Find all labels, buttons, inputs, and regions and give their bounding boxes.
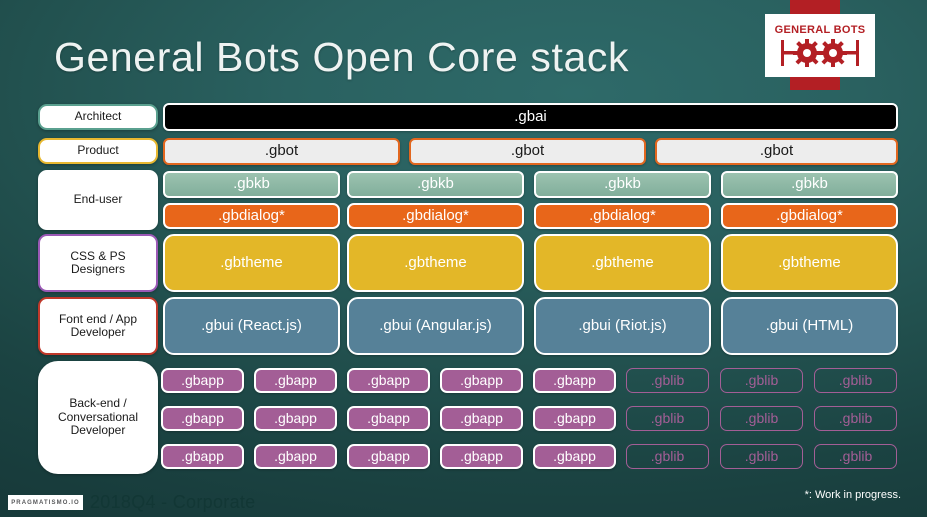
- pragmatismo-wordmark: PRAGMATISMO.IO: [11, 500, 80, 506]
- pragmatismo-logo: PRAGMATISMO.IO: [8, 495, 83, 510]
- stack-item-gbui-html[interactable]: .gbui (HTML): [721, 297, 898, 355]
- stack-item-gbkb[interactable]: .gbkb: [163, 171, 340, 198]
- stack-item-label: .gbdialog*: [402, 208, 469, 225]
- role-label-text: Product: [77, 144, 118, 157]
- stack-item-gbui-angular[interactable]: .gbui (Angular.js): [347, 297, 524, 355]
- stack-item-gblib[interactable]: .gblib: [626, 444, 709, 469]
- stack-item-label: .gbui (React.js): [201, 318, 302, 335]
- stack-item-label: .gbapp: [553, 449, 596, 465]
- stack-item-label: .gbapp: [460, 411, 503, 427]
- role-label-product: Product: [38, 138, 158, 164]
- stack-item-gbapp[interactable]: .gbapp: [161, 406, 244, 431]
- role-label-line-2: Designers: [71, 263, 125, 276]
- stack-item-label: .gblib: [745, 373, 778, 389]
- stack-item-gblib[interactable]: .gblib: [720, 444, 803, 469]
- stack-item-label: .gblib: [651, 449, 684, 465]
- stack-item-label: .gbtheme: [591, 255, 654, 272]
- stack-item-gbot[interactable]: .gbot: [409, 138, 646, 165]
- stack-item-label: .gbapp: [460, 373, 503, 389]
- role-label-back-end-conversational-developer: Back-end / Conversational Developer: [38, 361, 158, 474]
- logo-wordmark: GENERAL BOTS: [775, 24, 866, 36]
- stack-item-gblib[interactable]: .gblib: [814, 368, 897, 393]
- stack-item-label: .gbapp: [367, 411, 410, 427]
- stack-item-label: .gbtheme: [778, 255, 841, 272]
- role-label-text: End-user: [74, 193, 123, 206]
- gears-icon: [777, 38, 863, 68]
- stack-item-label: .gbdialog*: [589, 208, 656, 225]
- stack-item-gbkb[interactable]: .gbkb: [534, 171, 711, 198]
- role-label-line-2: Conversational: [58, 411, 138, 424]
- footer-caption: 2018Q4 - Corporate: [90, 492, 256, 513]
- stack-item-gbtheme[interactable]: .gbtheme: [347, 234, 524, 292]
- stack-item-label: .gbapp: [181, 449, 224, 465]
- role-label-front-end-app-developer: Font end / App Developer: [38, 297, 158, 355]
- stack-item-gbapp[interactable]: .gbapp: [347, 368, 430, 393]
- stack-item-label: .gbapp: [367, 449, 410, 465]
- stack-item-label: .gbot: [265, 143, 298, 160]
- stack-item-label: .gblib: [839, 373, 872, 389]
- stack-item-gbapp[interactable]: .gbapp: [440, 406, 523, 431]
- stack-item-gbapp[interactable]: .gbapp: [347, 444, 430, 469]
- stack-item-gbapp[interactable]: .gbapp: [161, 444, 244, 469]
- stack-item-gbapp[interactable]: .gbapp: [440, 444, 523, 469]
- stack-item-label: .gbapp: [274, 373, 317, 389]
- role-label-line-1: Back-end /: [69, 397, 126, 410]
- role-label-line-3: Developer: [71, 424, 126, 437]
- role-label-line-1: CSS & PS: [70, 250, 125, 263]
- stack-item-label: .gbkb: [604, 176, 641, 193]
- stack-item-label: .gblib: [839, 449, 872, 465]
- stack-item-label: .gbtheme: [404, 255, 467, 272]
- stack-item-gblib[interactable]: .gblib: [626, 406, 709, 431]
- stack-item-label: .gbui (Riot.js): [578, 318, 666, 335]
- stack-item-label: .gbui (Angular.js): [379, 318, 492, 335]
- stack-item-label: .gbkb: [417, 176, 454, 193]
- stack-item-label: .gbapp: [553, 373, 596, 389]
- stack-item-gbtheme[interactable]: .gbtheme: [534, 234, 711, 292]
- stack-item-gbdialog[interactable]: .gbdialog*: [163, 203, 340, 229]
- stack-item-gbapp[interactable]: .gbapp: [254, 368, 337, 393]
- stack-item-gbapp[interactable]: .gbapp: [440, 368, 523, 393]
- stack-item-gbapp[interactable]: .gbapp: [254, 406, 337, 431]
- stack-item-gbui-riot[interactable]: .gbui (Riot.js): [534, 297, 711, 355]
- stack-item-label: .gbapp: [460, 449, 503, 465]
- footnote-work-in-progress: *: Work in progress.: [805, 489, 901, 501]
- stack-item-label: .gbapp: [181, 373, 224, 389]
- stack-item-gbai[interactable]: .gbai: [163, 103, 898, 131]
- stack-item-label: .gblib: [651, 411, 684, 427]
- stack-item-gblib[interactable]: .gblib: [720, 368, 803, 393]
- stack-item-label: .gbtheme: [220, 255, 283, 272]
- stack-item-gbdialog[interactable]: .gbdialog*: [347, 203, 524, 229]
- role-label-line-1: Font end / App: [59, 313, 137, 326]
- stack-item-gbot[interactable]: .gbot: [163, 138, 400, 165]
- stack-item-gbapp[interactable]: .gbapp: [347, 406, 430, 431]
- stack-item-label: .gbapp: [553, 411, 596, 427]
- stack-item-gblib[interactable]: .gblib: [814, 444, 897, 469]
- role-label-text: Architect: [75, 110, 122, 123]
- stack-item-label: .gbai: [514, 109, 547, 126]
- role-label-line-2: Developer: [71, 326, 126, 339]
- stack-item-label: .gblib: [651, 373, 684, 389]
- stack-item-gbapp[interactable]: .gbapp: [254, 444, 337, 469]
- stack-item-label: .gbkb: [791, 176, 828, 193]
- stack-item-label: .gbapp: [274, 449, 317, 465]
- stack-item-gbapp[interactable]: .gbapp: [533, 444, 616, 469]
- stack-item-gblib[interactable]: .gblib: [720, 406, 803, 431]
- stack-item-label: .gbdialog*: [776, 208, 843, 225]
- stack-item-label: .gbui (HTML): [766, 318, 854, 335]
- stack-item-gbapp[interactable]: .gbapp: [161, 368, 244, 393]
- page-title: General Bots Open Core stack: [54, 34, 629, 81]
- stack-item-gbtheme[interactable]: .gbtheme: [721, 234, 898, 292]
- stack-item-gbkb[interactable]: .gbkb: [347, 171, 524, 198]
- stack-item-gbkb[interactable]: .gbkb: [721, 171, 898, 198]
- stack-item-label: .gbot: [760, 143, 793, 160]
- general-bots-logo: GENERAL BOTS: [765, 14, 875, 77]
- stack-item-label: .gbdialog*: [218, 208, 285, 225]
- stack-item-label: .gbapp: [367, 373, 410, 389]
- stack-item-gbtheme[interactable]: .gbtheme: [163, 234, 340, 292]
- role-label-end-user: End-user: [38, 170, 158, 230]
- role-label-architect: Architect: [38, 104, 158, 130]
- stack-item-label: .gblib: [839, 411, 872, 427]
- slide-canvas: GENERAL BOTS: [0, 0, 927, 517]
- stack-item-label: .gbot: [511, 143, 544, 160]
- stack-item-label: .gbapp: [274, 411, 317, 427]
- stack-item-gbapp[interactable]: .gbapp: [533, 406, 616, 431]
- stack-item-label: .gbkb: [233, 176, 270, 193]
- stack-item-label: .gblib: [745, 449, 778, 465]
- stack-item-gbdialog[interactable]: .gbdialog*: [534, 203, 711, 229]
- stack-item-gbapp[interactable]: .gbapp: [533, 368, 616, 393]
- stack-item-label: .gbapp: [181, 411, 224, 427]
- stack-item-gbot[interactable]: .gbot: [655, 138, 898, 165]
- stack-item-gblib[interactable]: .gblib: [814, 406, 897, 431]
- stack-item-label: .gblib: [745, 411, 778, 427]
- role-label-css-ps-designers: CSS & PS Designers: [38, 234, 158, 292]
- stack-item-gbui-react[interactable]: .gbui (React.js): [163, 297, 340, 355]
- stack-item-gblib[interactable]: .gblib: [626, 368, 709, 393]
- stack-item-gbdialog[interactable]: .gbdialog*: [721, 203, 898, 229]
